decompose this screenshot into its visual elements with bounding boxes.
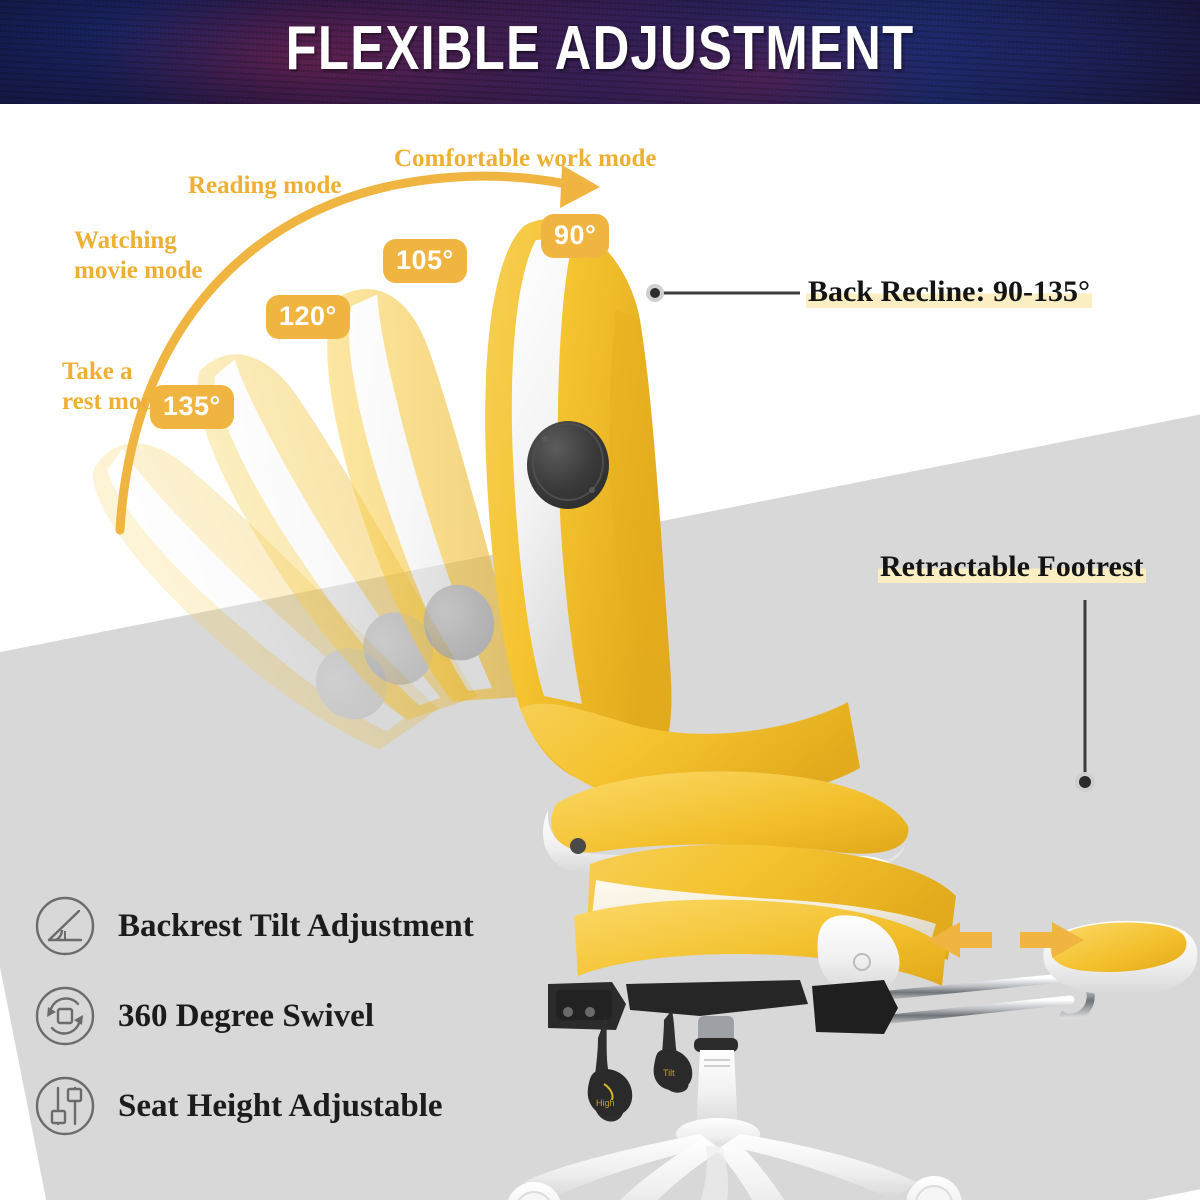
feature-label-swivel-360: 360 Degree Swivel (118, 997, 374, 1035)
arrow-right-icon (1020, 922, 1084, 958)
callout-back-recline: Back Recline: 90-135° (806, 274, 1092, 310)
mode-label-comfortable-work: Comfortable work mode (394, 144, 656, 174)
callout-back-recline-label: Back Recline: 90-135° (806, 275, 1092, 308)
angle-badge-120: 120° (266, 295, 350, 339)
angle-badge-135: 135° (150, 385, 234, 429)
feature-row-seat-height: Seat Height Adjustable (34, 1064, 554, 1148)
footrest-slide-arrows (928, 922, 1084, 958)
mode-label-watching-movie: Watching movie mode (74, 226, 202, 286)
swivel-360-icon (34, 985, 96, 1047)
feature-row-backrest-tilt: Backrest Tilt Adjustment (34, 884, 554, 968)
feature-row-swivel-360: 360 Degree Swivel (34, 974, 554, 1058)
angle-badge-90: 90° (541, 214, 609, 258)
callout-retractable-footrest: Retractable Footrest (878, 549, 1146, 585)
footrest-leader (1075, 600, 1095, 792)
backrest-tilt-icon (34, 895, 96, 957)
angle-badge-105: 105° (383, 239, 467, 283)
feature-label-seat-height: Seat Height Adjustable (118, 1087, 443, 1125)
arrow-left-icon (928, 922, 992, 958)
callout-retractable-footrest-label: Retractable Footrest (878, 550, 1146, 583)
feature-label-backrest-tilt: Backrest Tilt Adjustment (118, 907, 474, 945)
mode-label-reading: Reading mode (188, 171, 341, 201)
back-recline-leader (646, 284, 800, 302)
feature-list: Backrest Tilt Adjustment 360 Degree Swiv… (34, 884, 554, 1154)
seat-height-icon (34, 1075, 96, 1137)
